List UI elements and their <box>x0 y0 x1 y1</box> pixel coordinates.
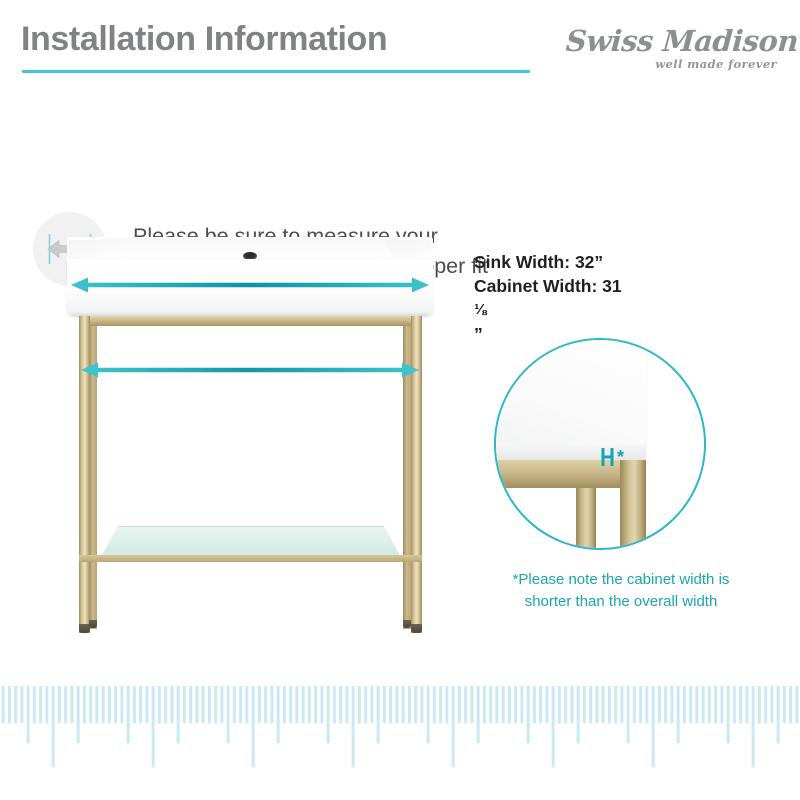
foot-front-right <box>411 624 422 633</box>
sink-width-arrow <box>71 274 429 296</box>
width-difference-marker: * <box>600 446 646 472</box>
brand-logo-wordmark: Swiss Madison® <box>565 24 781 58</box>
width-specifications: Sink Width: 32” Cabinet Width: 31 ⅛” <box>474 250 774 346</box>
brand-logo: Swiss Madison® well made forever <box>566 24 780 74</box>
cabinet-width-footnote: *Please note the cabinet width is shorte… <box>471 569 771 613</box>
page-header: Installation Information Swiss Madison® … <box>0 0 800 95</box>
bottom-shelf-rail <box>79 555 422 562</box>
vanity-illustration <box>55 228 445 653</box>
foot-back-left <box>89 620 97 628</box>
frame-top-rail <box>79 316 422 326</box>
cabinet-width-prefix: Cabinet Width: 31 <box>474 274 774 298</box>
detail-frame-leg-back-right <box>576 488 596 550</box>
brand-logo-name: Swiss Madison <box>565 24 800 58</box>
measure-notice: Please be sure to measure your installat… <box>0 100 800 195</box>
detail-frame-leg-front-right <box>620 460 646 550</box>
sink-width-spec: Sink Width: 32” <box>474 250 774 274</box>
cabinet-width-spec: Cabinet Width: 31 ⅛” <box>474 274 774 346</box>
footnote-line1: *Please note the cabinet width is <box>471 569 771 591</box>
svg-text:*: * <box>617 447 624 467</box>
measuring-tape-ticks <box>0 686 800 776</box>
foot-back-right <box>403 620 411 628</box>
detail-leg-gap <box>596 488 601 550</box>
cabinet-width-fraction: ⅛ <box>474 298 774 322</box>
page-title: Installation Information <box>21 20 387 59</box>
title-underline <box>22 70 530 73</box>
cabinet-corner-zoom-detail <box>494 338 706 550</box>
installation-information-page: Installation Information Swiss Madison® … <box>0 0 800 800</box>
footnote-line2: shorter than the overall width <box>471 591 771 613</box>
cabinet-width-arrow <box>81 359 419 381</box>
brand-logo-tagline: well made forever <box>655 57 777 71</box>
